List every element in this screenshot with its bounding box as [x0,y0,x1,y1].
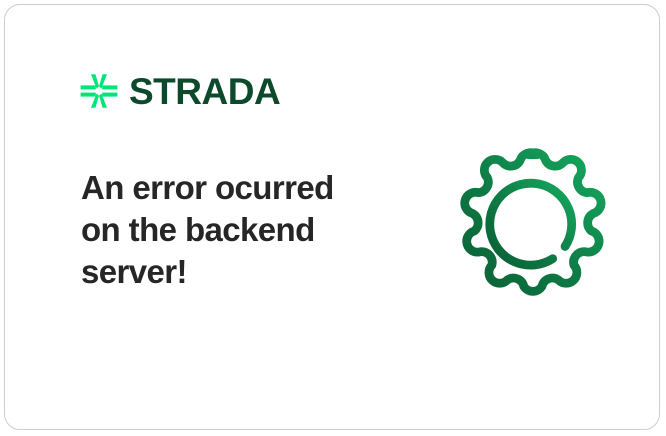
error-message-heading: An error ocurred on the backend server! [81,167,381,294]
strada-asterisk-icon [79,71,119,111]
brand-lockup: STRADA [79,71,280,111]
gear-icon [451,146,607,302]
brand-wordmark: STRADA [129,73,280,110]
error-card: STRADA An error ocurred on the backend s… [4,4,660,430]
